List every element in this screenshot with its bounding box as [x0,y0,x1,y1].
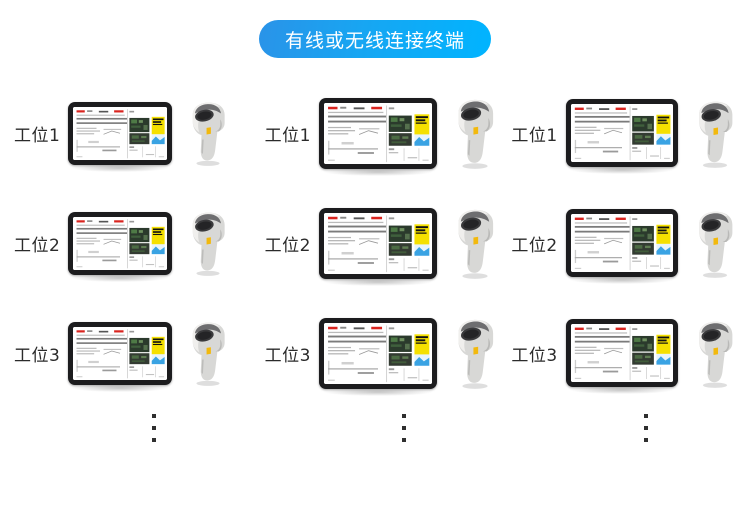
barcode-scanner[interactable] [451,206,499,280]
terminal-display[interactable] [319,208,437,279]
continuation-cell [258,408,508,468]
workstation-cell[interactable]: 工位2 [253,188,504,298]
barcode-scanner[interactable] [451,96,499,170]
ellipsis-dot [644,438,648,442]
workstation-cell[interactable]: 工位3 [0,298,253,408]
terminal-group [68,322,172,385]
workstation-row: 工位3 [0,298,750,408]
vertical-ellipsis-icon [152,414,156,442]
screen-content-document [73,217,167,270]
screen-content-document [324,103,432,164]
screen-content-document [324,213,432,274]
workstation-cell[interactable]: 工位1 [0,78,253,188]
screen-content-document [571,104,673,162]
ellipsis-dot [152,438,156,442]
terminal-group [566,99,678,167]
ellipsis-dot [152,414,156,418]
continuation-row [0,408,750,468]
terminal-display[interactable] [319,98,437,169]
workstation-label: 工位1 [265,121,311,146]
terminal-group [319,208,437,279]
vertical-ellipsis-icon [402,414,406,442]
ellipsis-dot [402,426,406,430]
barcode-scanner[interactable] [692,208,738,279]
screen-content-document [73,327,167,380]
barcode-scanner[interactable] [186,99,230,167]
terminal-group [68,102,172,165]
terminal-group [566,319,678,387]
screen-content-document [73,107,167,160]
terminal-group [319,318,437,389]
workstation-cell[interactable]: 工位2 [503,188,750,298]
ellipsis-dot [402,414,406,418]
terminal-display[interactable] [566,209,678,277]
header: 有线或无线连接终端 [0,0,750,78]
terminal-display[interactable] [319,318,437,389]
workstation-label: 工位1 [14,121,60,146]
ellipsis-dot [644,414,648,418]
workstation-label: 工位1 [511,121,557,146]
terminal-display[interactable] [566,99,678,167]
barcode-scanner[interactable] [692,98,738,169]
continuation-cell [508,408,750,468]
screen-content-document [324,323,432,384]
continuation-cell [0,408,258,468]
terminal-group [566,209,678,277]
terminal-group [68,212,172,275]
workstation-cell[interactable]: 工位1 [253,78,504,188]
ellipsis-dot [402,438,406,442]
terminal-display[interactable] [68,102,172,165]
screen-content-document [571,214,673,272]
header-badge: 有线或无线连接终端 [259,20,491,58]
workstation-row: 工位1 [0,78,750,188]
barcode-scanner[interactable] [692,318,738,389]
workstation-cell[interactable]: 工位3 [253,298,504,408]
workstation-cell[interactable]: 工位1 [503,78,750,188]
workstation-cell[interactable]: 工位3 [503,298,750,408]
terminal-display[interactable] [566,319,678,387]
workstation-label: 工位3 [511,341,557,366]
screen-content-document [571,324,673,382]
workstation-label: 工位2 [511,231,557,256]
workstation-label: 工位2 [265,231,311,256]
workstation-cell[interactable]: 工位2 [0,188,253,298]
workstation-grid: 工位1 [0,78,750,468]
workstation-label: 工位3 [265,341,311,366]
barcode-scanner[interactable] [451,316,499,390]
workstation-label: 工位3 [14,341,60,366]
barcode-scanner[interactable] [186,209,230,277]
terminal-group [319,98,437,169]
workstation-label: 工位2 [14,231,60,256]
workstation-row: 工位2 [0,188,750,298]
ellipsis-dot [644,426,648,430]
terminal-display[interactable] [68,322,172,385]
terminal-display[interactable] [68,212,172,275]
barcode-scanner[interactable] [186,319,230,387]
vertical-ellipsis-icon [644,414,648,442]
ellipsis-dot [152,426,156,430]
